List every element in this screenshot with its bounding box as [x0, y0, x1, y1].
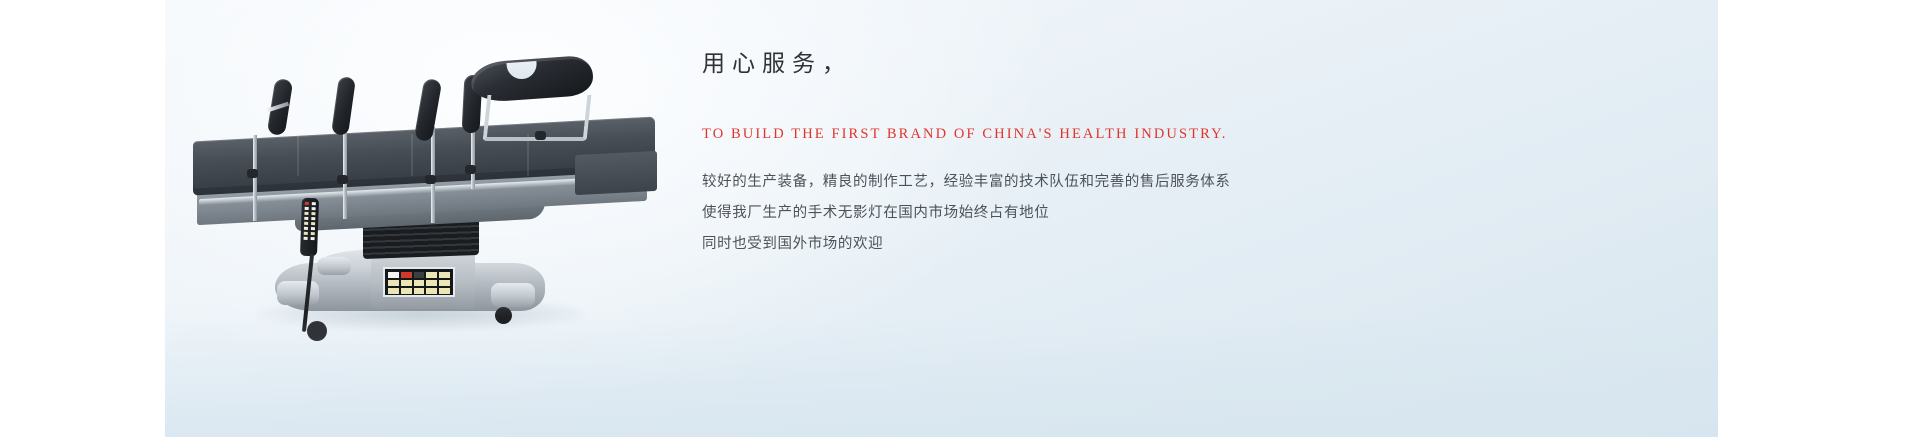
- banner-headline: 用心服务，: [702, 44, 1362, 78]
- mattress-seam-2: [411, 134, 413, 176]
- banner-body-line-1: 较好的生产装备，精良的制作工艺，经验丰富的技术队伍和完善的售后服务体系: [702, 167, 1362, 198]
- banner-copy: 用心服务， TO BUILD THE FIRST BRAND OF CHINA'…: [702, 44, 1362, 260]
- headrest-clamp-knob: [535, 131, 546, 140]
- post-clamp-knob-4: [465, 165, 476, 174]
- arm-rest-pad-2: [331, 76, 356, 136]
- castor-front-left: [277, 281, 319, 305]
- banner-tagline: TO BUILD THE FIRST BRAND OF CHINA'S HEAL…: [702, 126, 1362, 143]
- promo-banner: 用心服务， TO BUILD THE FIRST BRAND OF CHINA'…: [165, 0, 1718, 437]
- wheel-front-left: [307, 321, 327, 341]
- castor-front-right: [491, 283, 535, 307]
- accessory-post-1: [253, 135, 257, 221]
- castor-rear-left: [317, 257, 351, 275]
- post-clamp-knob-2: [337, 175, 348, 184]
- table-leg-section-pad: [575, 151, 657, 195]
- mattress-seam-1: [297, 134, 299, 176]
- banner-body: 较好的生产装备，精良的制作工艺，经验丰富的技术队伍和完善的售后服务体系 使得我厂…: [702, 167, 1362, 260]
- post-clamp-knob-3: [425, 175, 436, 184]
- operating-table-image: [175, 35, 695, 335]
- pendant-button-grid[interactable]: [304, 202, 316, 240]
- accessory-post-2: [343, 127, 347, 219]
- control-panel-keypad[interactable]: [383, 267, 455, 297]
- wheel-front-right: [495, 307, 512, 324]
- pendant-hand-control[interactable]: [300, 198, 319, 257]
- post-clamp-knob-1: [247, 169, 258, 178]
- banner-body-line-2: 使得我厂生产的手术无影灯在国内市场始终占有地位: [702, 198, 1362, 229]
- banner-body-line-3: 同时也受到国外市场的欢迎: [702, 229, 1362, 260]
